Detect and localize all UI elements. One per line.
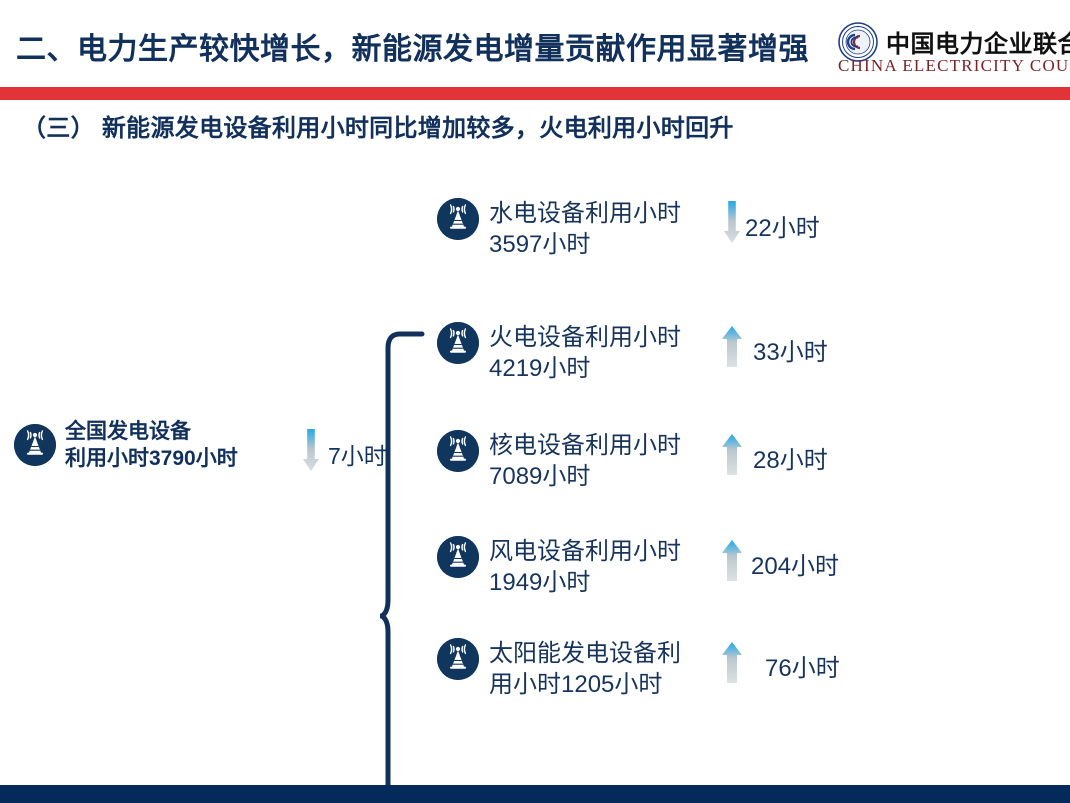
slide-header: 二、电力生产较快增长，新能源发电增量贡献作用显著增强 ★ 中国电力企业联合会 C… (0, 0, 1070, 87)
logo-name-en: CHINA ELECTRICITY COUNCIL (838, 56, 1070, 76)
root-delta: 7小时 (302, 428, 387, 479)
page-title: 二、电力生产较快增长，新能源发电增量贡献作用显著增强 (16, 24, 809, 68)
list-item[interactable]: 风电设备利用小时 1949小时 (437, 536, 997, 598)
list-item-line2: 4219小时 (489, 353, 681, 384)
list-item[interactable]: 太阳能发电设备利 用小时1205小时 (437, 638, 997, 700)
footer-bar (0, 785, 1070, 803)
list-item-delta-label: 76小时 (765, 648, 840, 683)
arrow-up-icon (721, 324, 743, 375)
list-item-delta: 28小时 (721, 432, 828, 483)
root-node[interactable]: 全国发电设备 利用小时3790小时 (14, 418, 238, 473)
list-item[interactable]: 火电设备利用小时 4219小时 (437, 322, 997, 384)
logo-name-cn: 中国电力企业联合会 (886, 24, 1070, 59)
list-item-delta: 204小时 (721, 538, 839, 589)
power-tower-icon (437, 198, 479, 240)
list-item-text: 风电设备利用小时 1949小时 (489, 536, 681, 598)
list-item-line1: 太阳能发电设备利 (489, 638, 681, 669)
section-subtitle: （三） 新能源发电设备利用小时同比增加较多，火电利用小时回升 (22, 108, 734, 143)
svg-text:★: ★ (857, 25, 860, 29)
list-item-delta-label: 28小时 (753, 440, 828, 475)
diagram-canvas: 全国发电设备 利用小时3790小时 7小时 (0, 160, 1070, 760)
list-item-delta-label: 204小时 (751, 546, 839, 581)
list-item-line2: 1949小时 (489, 567, 681, 598)
list-item-delta-label: 22小时 (745, 208, 820, 243)
root-node-text: 全国发电设备 利用小时3790小时 (65, 418, 238, 473)
list-item-text: 太阳能发电设备利 用小时1205小时 (489, 638, 681, 700)
header-red-divider (0, 87, 1070, 100)
list-item-line1: 风电设备利用小时 (489, 536, 681, 567)
list-item-line1: 核电设备利用小时 (489, 430, 681, 461)
list-item-delta-label: 33小时 (753, 332, 828, 367)
list-item-delta: 22小时 (723, 200, 820, 251)
list-item[interactable]: 核电设备利用小时 7089小时 (437, 430, 997, 492)
list-item-text: 核电设备利用小时 7089小时 (489, 430, 681, 492)
list-item-line2: 3597小时 (489, 229, 681, 260)
root-node-line2: 利用小时3790小时 (65, 445, 238, 472)
power-tower-icon (14, 424, 56, 466)
power-tower-icon (437, 536, 479, 578)
list-item-delta: 76小时 (721, 640, 840, 691)
arrow-up-icon (721, 432, 743, 483)
list-item-delta: 33小时 (721, 324, 828, 375)
arrow-down-icon (723, 200, 741, 251)
arrow-up-icon (721, 538, 743, 589)
curly-bracket-right-icon (380, 328, 426, 803)
organization-logo: ★ 中国电力企业联合会 CHINA ELECTRICITY COUNCIL (838, 20, 1064, 80)
arrow-down-icon (302, 428, 320, 479)
arrow-up-icon (721, 640, 743, 691)
list-item-text: 火电设备利用小时 4219小时 (489, 322, 681, 384)
power-tower-icon (437, 638, 479, 680)
root-delta-label: 7小时 (328, 437, 387, 471)
list-item-text: 水电设备利用小时 3597小时 (489, 198, 681, 260)
root-node-line1: 全国发电设备 (65, 418, 238, 445)
slide-root: 二、电力生产较快增长，新能源发电增量贡献作用显著增强 ★ 中国电力企业联合会 C… (0, 0, 1070, 803)
list-item[interactable]: 水电设备利用小时 3597小时 (437, 198, 997, 260)
power-tower-icon (437, 322, 479, 364)
list-item-line2: 7089小时 (489, 461, 681, 492)
list-item-line2: 用小时1205小时 (489, 669, 681, 700)
list-item-line1: 水电设备利用小时 (489, 198, 681, 229)
list-item-line1: 火电设备利用小时 (489, 322, 681, 353)
power-tower-icon (437, 430, 479, 472)
